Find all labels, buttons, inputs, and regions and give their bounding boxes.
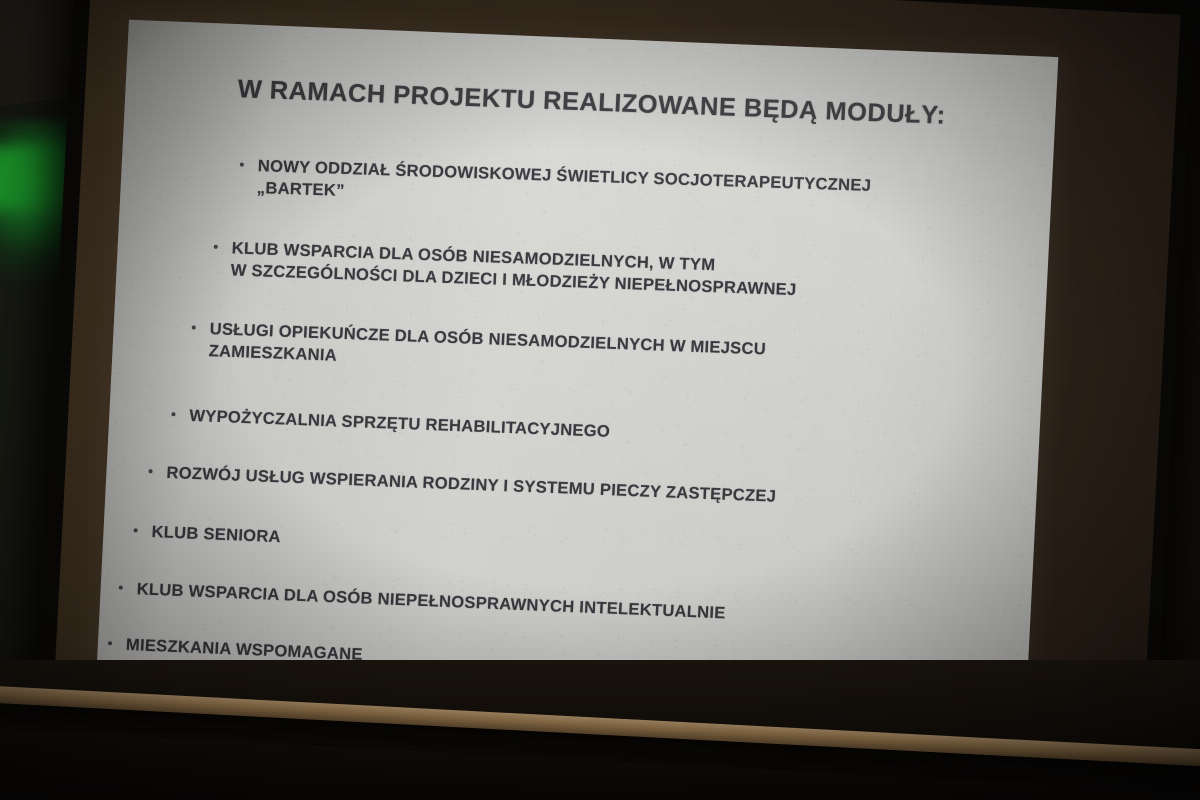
list-item-text: KLUB WSPARCIA DLA OSÓB NIEPEŁNOSPRAWNYCH… (136, 578, 726, 624)
list-item-text: USŁUGI OPIEKUŃCZE DLA OSÓB NIESAMODZIELN… (208, 318, 766, 381)
bullet-dot-icon (171, 412, 175, 416)
bullet-dot-icon (240, 163, 244, 167)
list-item-text: KLUB SENIORA (151, 521, 281, 548)
bullet-dot-icon (214, 245, 218, 249)
room-scene: W RAMACH PROJEKTU REALIZOWANE BĘDĄ MODUŁ… (0, 0, 1200, 800)
list-item: KLUB WSPARCIA DLA OSÓB NIESAMODZIELNYCH,… (164, 235, 798, 300)
bullet-dot-icon (148, 469, 152, 473)
exit-light-core (0, 143, 72, 212)
list-item-text: KLUB WSPARCIA DLA OSÓB NIESAMODZIELNYCH,… (230, 237, 798, 300)
list-item: KLUB WSPARCIA DLA OSÓB NIEPEŁNOSPRAWNYCH… (110, 577, 726, 624)
list-item: WYPOŻYCZALNIA SPRZĘTU REHABILITACYJNEGO (141, 403, 611, 442)
list-item: KLUB SENIORA (119, 520, 281, 548)
bullet-dot-icon (119, 586, 123, 590)
bullet-dot-icon (108, 641, 112, 645)
bullet-dot-icon (134, 528, 138, 532)
bullet-dot-icon (192, 325, 196, 329)
list-item: ROZWÓJ USŁUG WSPIERANIA RODZINY I SYSTEM… (130, 461, 777, 508)
list-item-text: ROZWÓJ USŁUG WSPIERANIA RODZINY I SYSTEM… (166, 462, 777, 507)
projected-slide: W RAMACH PROJEKTU REALIZOWANE BĘDĄ MODUŁ… (96, 20, 1059, 726)
slide-bullet-list: NOWY ODDZIAŁ ŚRODOWISKOWEJ ŚWIETLICY SOC… (96, 20, 1059, 726)
list-item-text: WYPOŻYCZALNIA SPRZĘTU REHABILITACYJNEGO (189, 405, 611, 443)
list-item: USŁUGI OPIEKUŃCZE DLA OSÓB NIESAMODZIELN… (152, 316, 766, 382)
slide-content: W RAMACH PROJEKTU REALIZOWANE BĘDĄ MODUŁ… (96, 20, 1059, 726)
list-item-text: NOWY ODDZIAŁ ŚRODOWISKOWEJ ŚWIETLICY SOC… (256, 155, 871, 218)
list-item: NOWY ODDZIAŁ ŚRODOWISKOWEJ ŚWIETLICY SOC… (179, 153, 872, 218)
